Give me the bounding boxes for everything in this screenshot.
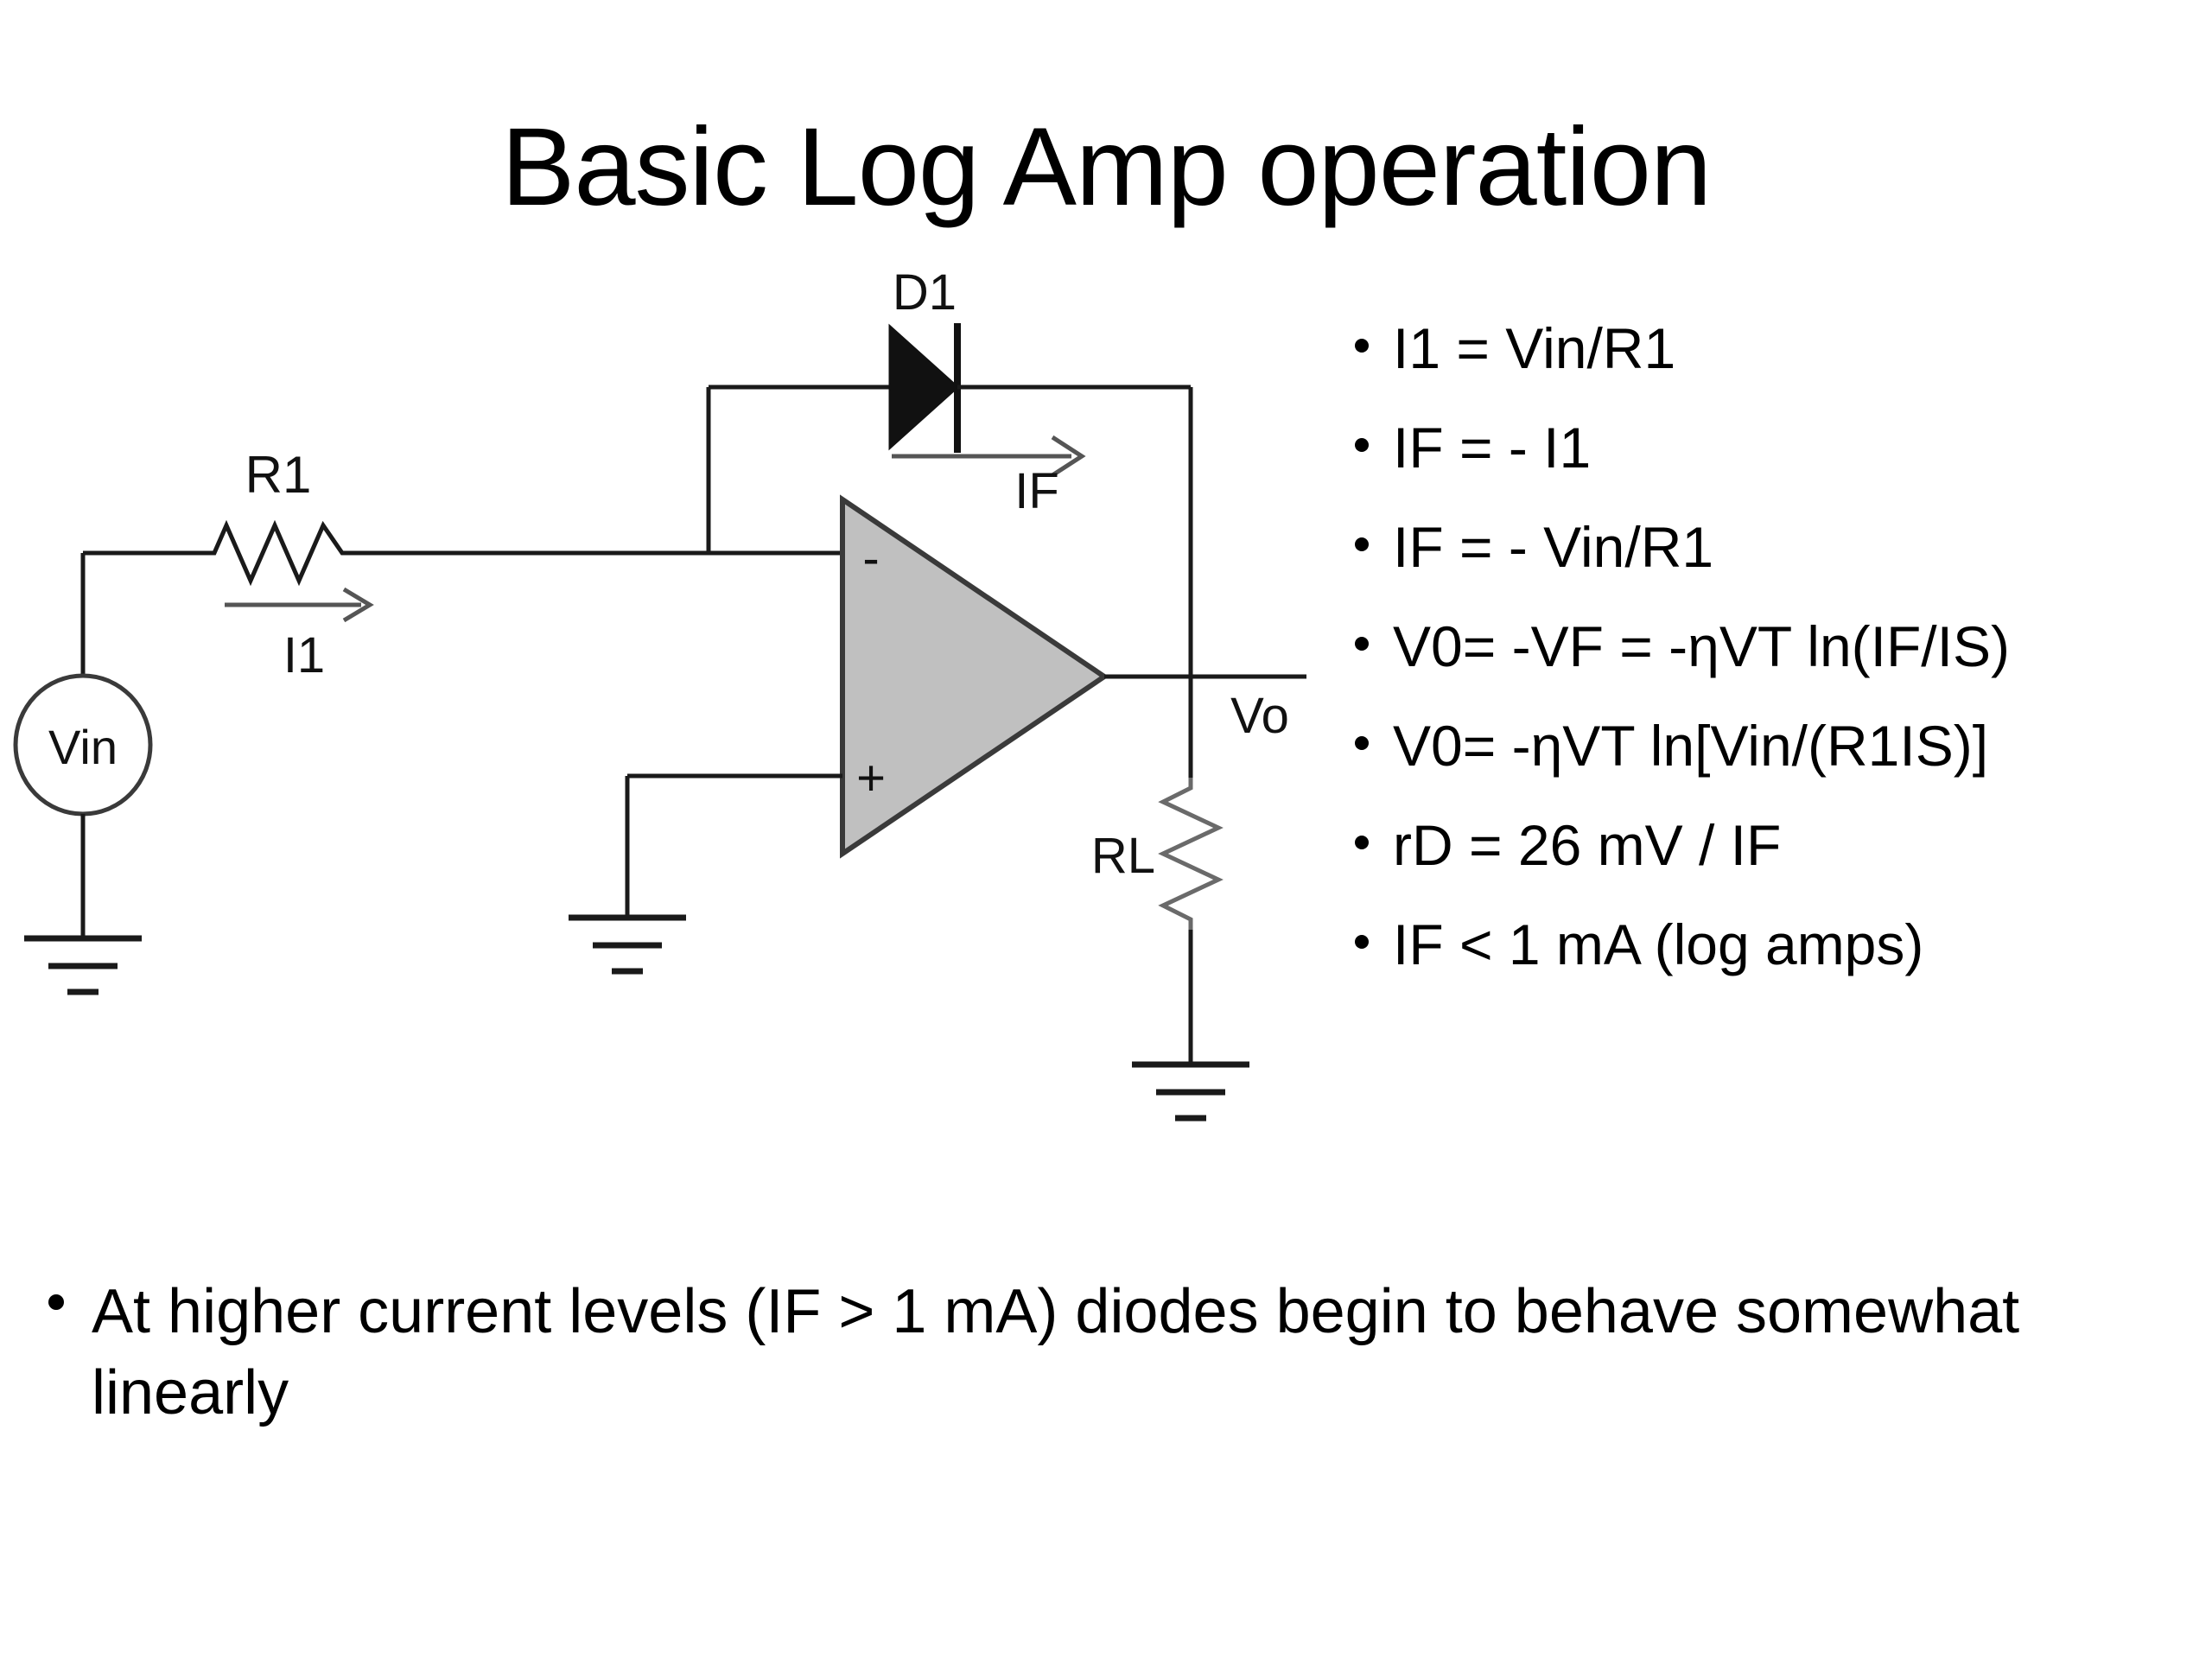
formula-text: I1 = Vin/R1 (1393, 316, 1675, 380)
source-label: Vin (48, 720, 118, 774)
ground-symbol-rl (1132, 1065, 1249, 1118)
bullet-dot-icon (1355, 736, 1369, 750)
resistor-rl-symbol (1163, 778, 1218, 930)
formula-text: IF < 1 mA (log amps) (1393, 912, 1923, 976)
list-item: V0= -ηVT ln[Vin/(R1IS)] (1348, 717, 2212, 774)
formula-text: rD = 26 mV / IF (1393, 813, 1781, 877)
bullet-dot-icon (48, 1294, 64, 1310)
formula-list: I1 = Vin/R1 IF = - I1 IF = - Vin/R1 V0= … (1348, 320, 2212, 1015)
list-item: I1 = Vin/R1 (1348, 320, 2212, 377)
bullet-dot-icon (1355, 339, 1369, 353)
slide-root: Basic Log Amp operation Vin R1 I1 (0, 0, 2212, 1659)
diode-d1-symbol (890, 323, 957, 453)
current-if-label: IF (1014, 463, 1059, 519)
current-arrow-i1 (225, 589, 370, 620)
ground-symbol-source (24, 938, 142, 992)
formula-text: IF = - Vin/R1 (1393, 515, 1713, 579)
diode-d1-label: D1 (893, 264, 957, 321)
resistor-r1-label: R1 (245, 446, 312, 504)
list-item: IF < 1 mA (log amps) (1348, 916, 2212, 973)
formula-text: IF = - I1 (1393, 416, 1591, 480)
list-item: V0= -VF = -ηVT ln(IF/IS) (1348, 618, 2212, 675)
opamp-noninverting-input-label: + (856, 750, 886, 806)
list-item: rD = 26 mV / IF (1348, 817, 2212, 874)
bottom-note-list: At higher current levels (IF > 1 mA) dio… (40, 1272, 2027, 1433)
list-item: IF = - I1 (1348, 419, 2212, 476)
ground-symbol-noninverting (569, 918, 686, 971)
bottom-note-text: At higher current levels (IF > 1 mA) dio… (92, 1277, 2019, 1427)
formula-text: V0= -VF = -ηVT ln(IF/IS) (1393, 614, 2010, 678)
resistor-rl-label: RL (1091, 828, 1155, 884)
bullet-dot-icon (1355, 637, 1369, 651)
formula-text: V0= -ηVT ln[Vin/(R1IS)] (1393, 714, 1988, 778)
bullet-dot-icon (1355, 935, 1369, 949)
current-i1-label: I1 (283, 627, 325, 683)
resistor-r1-symbol (200, 525, 354, 581)
list-item: At higher current levels (IF > 1 mA) dio… (40, 1272, 2027, 1433)
list-item: IF = - Vin/R1 (1348, 518, 2212, 575)
bullet-dot-icon (1355, 537, 1369, 551)
bullet-dot-icon (1355, 438, 1369, 452)
output-node-label: Vo (1230, 688, 1289, 744)
bullet-dot-icon (1355, 836, 1369, 849)
opamp-inverting-input-label: - (862, 531, 879, 587)
